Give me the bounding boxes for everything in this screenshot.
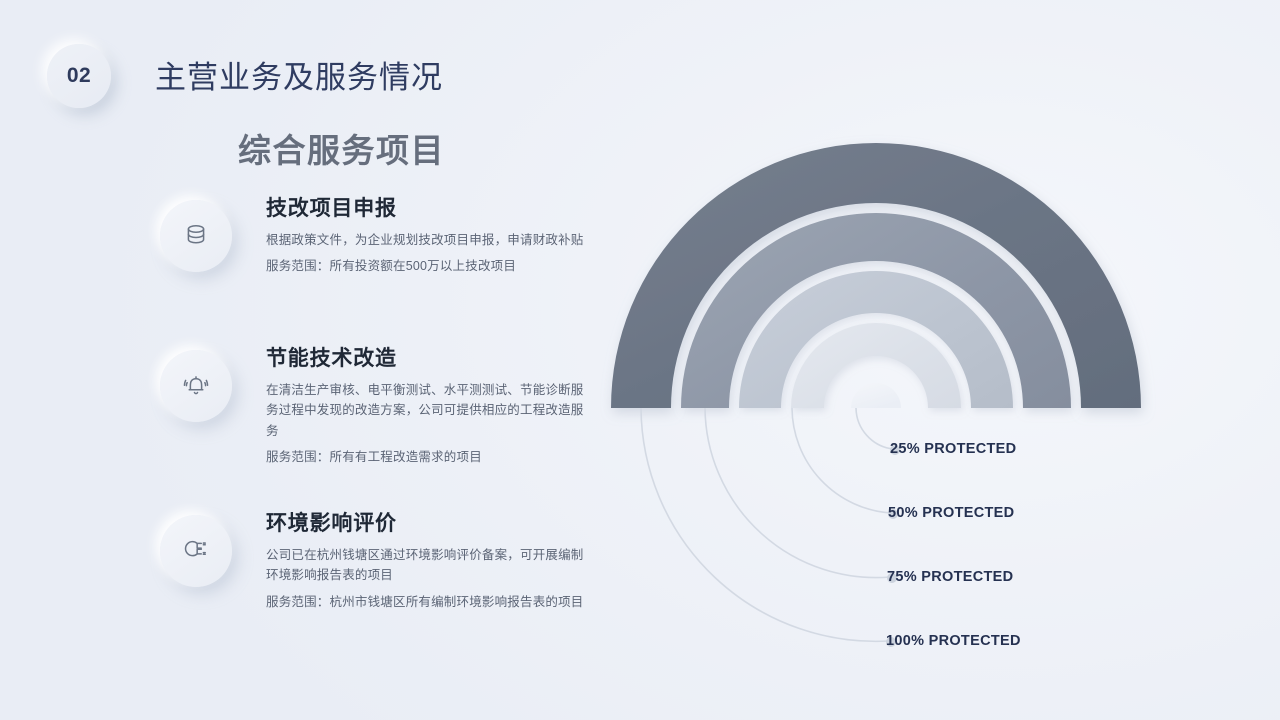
- section-title: 主营业务及服务情况: [155, 52, 443, 97]
- leader-line-25: [856, 408, 893, 449]
- feature-scope: 服务范围：所有投资额在500万以上技改项目: [266, 256, 596, 276]
- ring-label-25: 25% PROTECTED: [890, 441, 1016, 457]
- feature-description: 在清洁生产审核、电平衡测试、水平测测试、节能诊断服务过程中发现的改造方案，公司可…: [266, 380, 596, 441]
- feature-body-2: 节能技术改造 在清洁生产审核、电平衡测试、水平测测试、节能诊断服务过程中发现的改…: [266, 342, 596, 467]
- ring-core: [851, 383, 901, 408]
- page-title: 综合服务项目: [238, 124, 445, 172]
- database-icon: [160, 200, 232, 272]
- feature-scope: 服务范围：所有有工程改造需求的项目: [266, 447, 596, 467]
- leader-line-100: [641, 408, 889, 641]
- concentric-half-ring-chart: 25% PROTECTED 50% PROTECTED 75% PROTECTE…: [560, 110, 1280, 680]
- feature-title: 节能技术改造: [266, 342, 596, 372]
- feature-description: 根据政策文件，为企业规划技改项目申报，申请财政补贴: [266, 230, 596, 250]
- section-number-badge: 02: [47, 44, 111, 108]
- feature-description: 公司已在杭州钱塘区通过环境影响评价备案，可开展编制环境影响报告表的项目: [266, 545, 596, 586]
- magnet-icon: [160, 515, 232, 587]
- ring-label-75: 75% PROTECTED: [887, 569, 1013, 585]
- bell-icon: [160, 350, 232, 422]
- leader-line-75: [705, 408, 890, 578]
- chart-svg: [560, 110, 1280, 680]
- ring-label-100: 100% PROTECTED: [886, 633, 1021, 649]
- feature-title: 环境影响评价: [266, 507, 596, 537]
- feature-scope: 服务范围：杭州市钱塘区所有编制环境影响报告表的项目: [266, 592, 596, 612]
- ring-label-50: 50% PROTECTED: [888, 505, 1014, 521]
- feature-body-1: 技改项目申报 根据政策文件，为企业规划技改项目申报，申请财政补贴 服务范围：所有…: [266, 192, 596, 277]
- feature-body-3: 环境影响评价 公司已在杭州钱塘区通过环境影响评价备案，可开展编制环境影响报告表的…: [266, 507, 596, 612]
- feature-title: 技改项目申报: [266, 192, 596, 222]
- slide-canvas: 02 主营业务及服务情况 综合服务项目 技改项目申报 根据政策文件，为企业规划技…: [0, 0, 1280, 720]
- section-number: 02: [67, 64, 91, 88]
- leader-line-50: [792, 408, 891, 513]
